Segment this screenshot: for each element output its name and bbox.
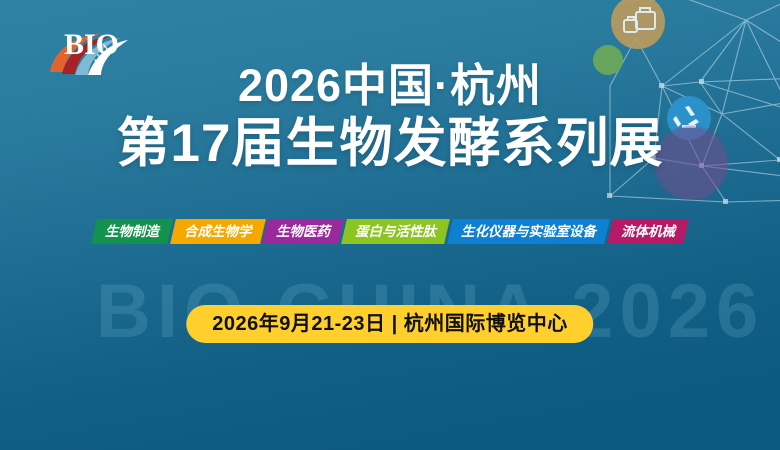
briefcase-node-circle xyxy=(611,0,665,49)
date-venue-pill[interactable]: 2026年9月21-23日 | 杭州国际博览中心 xyxy=(186,305,593,343)
tag-biomanufacturing[interactable]: 生物制造 xyxy=(91,219,173,244)
briefcase-node xyxy=(611,0,665,49)
exhibition-banner: BIO CHINA 2026 xyxy=(0,0,780,450)
tag-label: 生物制造 xyxy=(105,219,159,244)
page-title-line1: 2026中国·杭州 xyxy=(0,62,780,110)
bio-logo-text: BIO xyxy=(64,30,119,60)
category-tag-strip: 生物制造 合成生物学 生物医药 蛋白与活性肽 生化仪器与实验室设备 流体机械 xyxy=(0,219,780,244)
tag-label: 生化仪器与实验室设备 xyxy=(461,219,596,244)
tag-label: 蛋白与活性肽 xyxy=(355,219,436,244)
tag-label: 流体机械 xyxy=(621,219,675,244)
tag-label: 生物医药 xyxy=(276,219,330,244)
tag-fluid-machinery[interactable]: 流体机械 xyxy=(607,219,689,244)
briefcase-icon xyxy=(624,8,655,32)
tag-synthetic-biology[interactable]: 合成生物学 xyxy=(170,219,265,244)
tag-protein-peptide[interactable]: 蛋白与活性肽 xyxy=(341,219,450,244)
page-title-line2: 第17届生物发酵系列展 xyxy=(0,114,780,173)
tag-biopharma[interactable]: 生物医药 xyxy=(262,219,344,244)
title-block: 2026中国·杭州 第17届生物发酵系列展 xyxy=(0,62,780,173)
tag-label: 合成生物学 xyxy=(184,219,252,244)
tag-biochem-instruments[interactable]: 生化仪器与实验室设备 xyxy=(447,219,610,244)
